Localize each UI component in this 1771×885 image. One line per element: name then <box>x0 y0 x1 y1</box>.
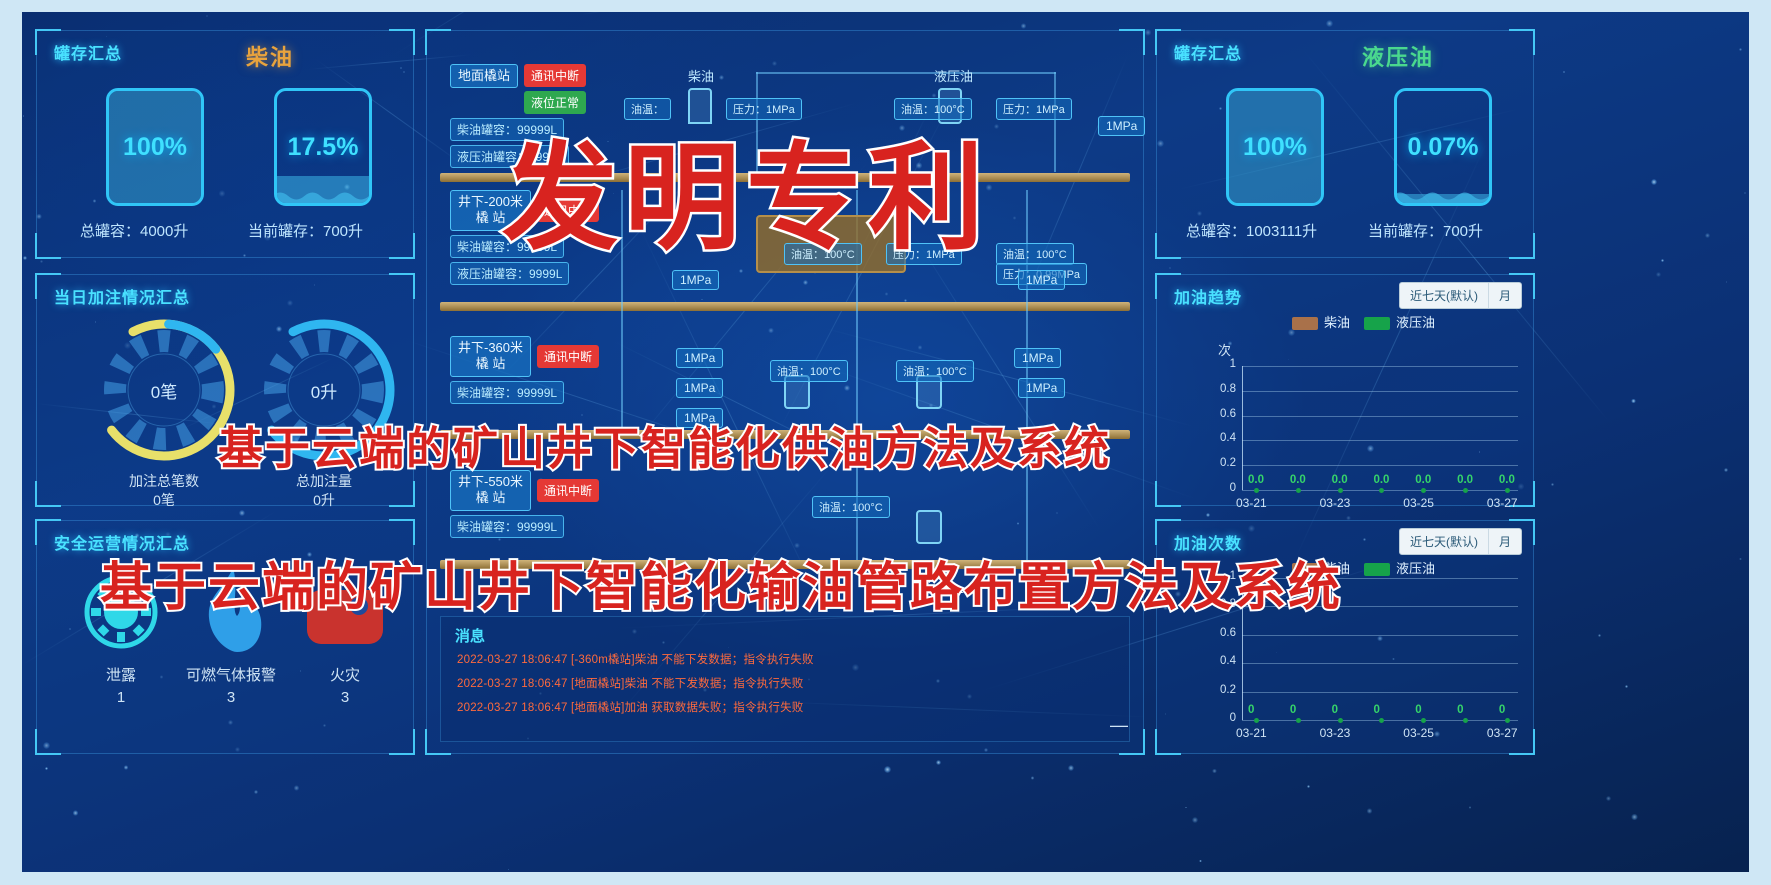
tank-percent-label: 0.07% <box>1397 133 1489 162</box>
panel-title: 罐存汇总 <box>54 40 122 64</box>
data-point <box>1505 488 1510 493</box>
tank-gauge-current: 17.5% <box>274 88 372 206</box>
minus-icon[interactable]: — <box>1110 715 1128 736</box>
data-point-label: 0.0 <box>1290 474 1306 486</box>
refuel-volume-caption-line2: 0升 <box>244 491 404 510</box>
pressure-tag: 1MPa <box>1018 270 1065 290</box>
data-point-label: 0.0 <box>1457 474 1473 486</box>
meter-pressure: 压力：1MPa <box>996 98 1072 120</box>
station-name: 地面橇站 <box>450 64 518 88</box>
data-point-label: 0 <box>1248 704 1254 716</box>
tank-current-stock: 当前罐存：700升 <box>248 220 363 241</box>
pressure-tag: 1MPa <box>676 348 723 368</box>
grid-line <box>1242 416 1518 417</box>
meter-oil-temp: 油温：100°C <box>896 360 974 382</box>
y-axis-tick: 0 <box>1202 712 1236 724</box>
message-log-line: 2022-03-27 18:06:47 [地面橇站]加油 获取数据失败；指令执行… <box>457 699 803 715</box>
data-point <box>1296 718 1301 723</box>
pressure-tag: 1MPa <box>676 378 723 398</box>
x-axis-tick: 03-21 <box>1236 726 1267 740</box>
refuel-trend-panel: 加油趋势 近七天(默认) 月 柴油 液压油 次 00.20.40.60.810.… <box>1156 274 1534 506</box>
y-axis-tick: 0.4 <box>1202 655 1236 667</box>
panel-title: 罐存汇总 <box>1174 40 1242 64</box>
message-log-title: 消息 <box>455 625 485 646</box>
data-point <box>1505 718 1510 723</box>
corner-decoration <box>1119 29 1145 55</box>
left-tank-summary-panel: 罐存汇总 柴油 100% 总罐容：4000升 17.5% 当前罐存：700升 <box>36 30 414 258</box>
corner-decoration <box>389 273 415 299</box>
data-point <box>1421 488 1426 493</box>
data-point-label: 0 <box>1499 704 1505 716</box>
tank-fill <box>277 176 369 203</box>
product-header-diesel: 柴油 <box>688 66 714 85</box>
x-axis-tick: 03-23 <box>1320 726 1351 740</box>
corner-decoration <box>389 29 415 55</box>
y-axis-tick: 1 <box>1202 358 1236 370</box>
data-point <box>1463 488 1468 493</box>
dashboard-screen: 罐存汇总 柴油 100% 总罐容：4000升 17.5% 当前罐存：700升 当… <box>22 12 1749 872</box>
tank-percent-label: 17.5% <box>277 133 369 162</box>
panel-title: 当日加注情况汇总 <box>54 284 190 308</box>
tank-gauge-current: 0.07% <box>1394 88 1492 206</box>
grid-line <box>1242 663 1518 664</box>
safety-label: 火灾 <box>270 664 420 685</box>
corner-decoration <box>389 729 415 755</box>
right-tank-summary-panel: 罐存汇总 液压油 100% 总罐容：1003111升 0.07% 当前罐存：70… <box>1156 30 1534 258</box>
trend-chart: 次 00.20.40.60.810.003-210.00.003-230.00.… <box>1156 274 1534 506</box>
data-point <box>1338 488 1343 493</box>
x-axis-tick: 03-27 <box>1487 726 1518 740</box>
tank-fill <box>1397 194 1489 203</box>
data-point-label: 0.0 <box>1373 474 1389 486</box>
data-point-label: 0.0 <box>1332 474 1348 486</box>
pipe-line <box>1054 72 1056 172</box>
data-point-label: 0.0 <box>1499 474 1515 486</box>
data-point <box>1379 488 1384 493</box>
tank-gauge-total: 100% <box>106 88 204 206</box>
data-point <box>1296 488 1301 493</box>
tank-gauge-total: 100% <box>1226 88 1324 206</box>
pipe-line <box>756 72 1056 74</box>
y-axis-tick: 0.6 <box>1202 627 1236 639</box>
grid-line <box>1242 692 1518 693</box>
data-point-label: 0.0 <box>1248 474 1264 486</box>
corner-decoration <box>1155 233 1181 259</box>
wave-icon <box>1394 189 1492 203</box>
grid-line <box>1242 366 1518 367</box>
message-log-line: 2022-03-27 18:06:47 [-360m橇站]柴油 不能下发数据；指… <box>457 651 814 667</box>
y-axis-tick: 0 <box>1202 482 1236 494</box>
data-point-label: 0 <box>1290 704 1296 716</box>
data-point-label: 0.0 <box>1415 474 1431 486</box>
watermark-line2: 基于云端的矿山井下智能化输油管路布置方法及系统 <box>100 545 1342 620</box>
grid-line <box>1242 391 1518 392</box>
tank-total-capacity: 总罐容：1003111升 <box>1186 220 1317 241</box>
watermark-line1: 基于云端的矿山井下智能化供油方法及系统 <box>218 412 1111 477</box>
tank-percent-label: 100% <box>1229 133 1321 162</box>
pressure-tag: 1MPa <box>672 270 719 290</box>
y-axis-tick: 0.6 <box>1202 408 1236 420</box>
corner-decoration <box>35 481 61 507</box>
grid-line <box>1242 465 1518 466</box>
grid-line <box>1242 440 1518 441</box>
station-name: 井下-360米 橇 站 <box>450 336 531 377</box>
refuel-count-gauge: 0笔 <box>90 316 238 464</box>
tank-vessel <box>916 510 942 544</box>
corner-decoration <box>1509 233 1535 259</box>
station-minus550[interactable]: 井下-550米 橇 站 通讯中断 柴油罐容：99999L <box>450 470 599 538</box>
x-axis-tick: 03-25 <box>1403 496 1434 510</box>
corner-decoration <box>1509 29 1535 55</box>
corner-decoration <box>35 729 61 755</box>
data-point <box>1421 718 1426 723</box>
refuel-count-value: 0笔 <box>90 316 238 464</box>
data-point <box>1254 718 1259 723</box>
tank-capacity-diesel: 柴油罐容：99999L <box>450 381 564 404</box>
tank-total-capacity: 总罐容：4000升 <box>80 220 188 241</box>
pressure-tag: 1MPa <box>1014 348 1061 368</box>
watermark-headline: 发明专利 <box>502 104 990 272</box>
status-badge-comm: 通讯中断 <box>524 64 586 87</box>
corner-decoration <box>35 233 61 259</box>
tank-current-stock: 当前罐存：700升 <box>1368 220 1483 241</box>
corner-decoration <box>389 519 415 545</box>
meter-oil-temp: 油温：100°C <box>770 360 848 382</box>
wave-icon <box>274 189 372 203</box>
station-minus360[interactable]: 井下-360米 橇 站 通讯中断 柴油罐容：99999L <box>450 336 599 404</box>
pressure-tag: 1MPa <box>1018 378 1065 398</box>
tank-percent-label: 100% <box>109 133 201 162</box>
y-axis-line <box>1242 366 1243 490</box>
x-axis-tick: 03-27 <box>1487 496 1518 510</box>
refuel-count-caption-line2: 0笔 <box>84 491 244 510</box>
x-axis-tick: 03-21 <box>1236 496 1267 510</box>
data-point-label: 0 <box>1457 704 1463 716</box>
y-axis-tick: 0.4 <box>1202 432 1236 444</box>
grid-line <box>1242 635 1518 636</box>
message-log-line: 2022-03-27 18:06:47 [地面橇站]柴油 不能下发数据；指令执行… <box>457 675 803 691</box>
y-axis-tick: 0.2 <box>1202 457 1236 469</box>
data-point-label: 0 <box>1332 704 1338 716</box>
data-point <box>1463 718 1468 723</box>
status-badge-comm: 通讯中断 <box>537 479 599 502</box>
meter-oil-temp: 油温：100°C <box>812 496 890 518</box>
safety-count: 3 <box>270 689 420 706</box>
y-axis-tick: 0.2 <box>1202 684 1236 696</box>
x-axis-tick: 03-23 <box>1320 496 1351 510</box>
x-axis-tick: 03-25 <box>1403 726 1434 740</box>
product-label-hydraulic: 液压油 <box>1362 40 1434 72</box>
product-label-diesel: 柴油 <box>246 40 294 72</box>
data-point <box>1254 488 1259 493</box>
corner-decoration <box>389 233 415 259</box>
refuel-volume-caption: 总加注量 0升 <box>244 472 404 510</box>
data-point-label: 0 <box>1415 704 1421 716</box>
status-badge-comm: 通讯中断 <box>537 345 599 368</box>
data-point <box>1379 718 1384 723</box>
corner-decoration <box>425 29 451 55</box>
product-header-hydraulic: 液压油 <box>934 66 973 85</box>
message-log-panel: 消息 2022-03-27 18:06:47 [-360m橇站]柴油 不能下发数… <box>440 616 1130 742</box>
refuel-count-caption: 加注总笔数 0笔 <box>84 472 244 510</box>
y-axis-unit: 次 <box>1218 340 1231 359</box>
pressure-tag: 1MPa <box>1098 116 1145 136</box>
y-axis-tick: 0.8 <box>1202 383 1236 395</box>
tank-capacity-diesel: 柴油罐容：99999L <box>450 515 564 538</box>
data-point-label: 0 <box>1373 704 1379 716</box>
meter-oil-temp: 油温：100°C <box>996 243 1074 265</box>
data-point <box>1338 718 1343 723</box>
